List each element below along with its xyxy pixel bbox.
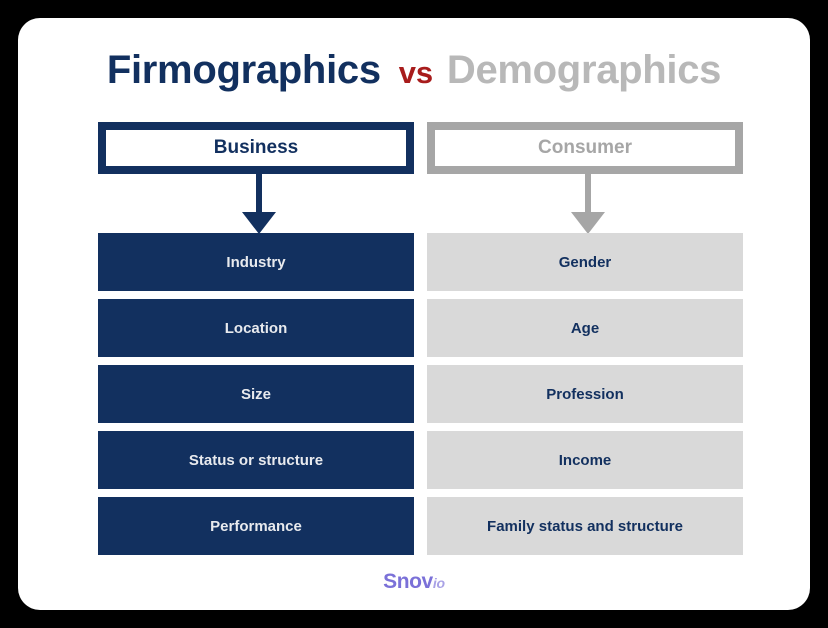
list-item: Age bbox=[427, 299, 743, 357]
snovio-logo: Snovio bbox=[18, 570, 810, 594]
list-item-label: Industry bbox=[226, 254, 285, 271]
list-item: Performance bbox=[98, 497, 414, 555]
business-attribute-list: Industry Location Size Status or structu… bbox=[98, 233, 414, 555]
title-right-term: Demographics bbox=[447, 48, 721, 93]
title-versus-separator: vs bbox=[399, 55, 433, 91]
list-item: Location bbox=[98, 299, 414, 357]
arrow-shaft bbox=[585, 174, 591, 214]
title-left-term: Firmographics bbox=[107, 48, 381, 93]
consumer-header-label: Consumer bbox=[538, 137, 632, 159]
down-arrow-icon-business bbox=[242, 174, 276, 234]
list-item-label: Status or structure bbox=[189, 452, 323, 469]
logo-suffix: io bbox=[433, 575, 445, 591]
logo-name: Snov bbox=[383, 570, 433, 593]
infographic-card: Firmographics vs Demographics Business C… bbox=[18, 18, 810, 610]
list-item-label: Income bbox=[559, 452, 612, 469]
list-item-label: Gender bbox=[559, 254, 612, 271]
list-item: Status or structure bbox=[98, 431, 414, 489]
list-item: Profession bbox=[427, 365, 743, 423]
list-item: Income bbox=[427, 431, 743, 489]
consumer-header-box: Consumer bbox=[427, 122, 743, 174]
list-item-label: Family status and structure bbox=[487, 518, 683, 535]
arrow-head bbox=[571, 212, 605, 234]
list-item-label: Location bbox=[225, 320, 288, 337]
list-item: Gender bbox=[427, 233, 743, 291]
consumer-attribute-list: Gender Age Profession Income Family stat… bbox=[427, 233, 743, 555]
business-header-label: Business bbox=[214, 137, 298, 159]
list-item-label: Size bbox=[241, 386, 271, 403]
arrow-shaft bbox=[256, 174, 262, 214]
list-item-label: Profession bbox=[546, 386, 624, 403]
business-header-box: Business bbox=[98, 122, 414, 174]
list-item: Industry bbox=[98, 233, 414, 291]
page-background: Firmographics vs Demographics Business C… bbox=[0, 0, 828, 628]
list-item: Size bbox=[98, 365, 414, 423]
page-title: Firmographics vs Demographics bbox=[18, 48, 810, 93]
list-item-label: Performance bbox=[210, 518, 302, 535]
list-item-label: Age bbox=[571, 320, 599, 337]
down-arrow-icon-consumer bbox=[571, 174, 605, 234]
arrow-head bbox=[242, 212, 276, 234]
list-item: Family status and structure bbox=[427, 497, 743, 555]
